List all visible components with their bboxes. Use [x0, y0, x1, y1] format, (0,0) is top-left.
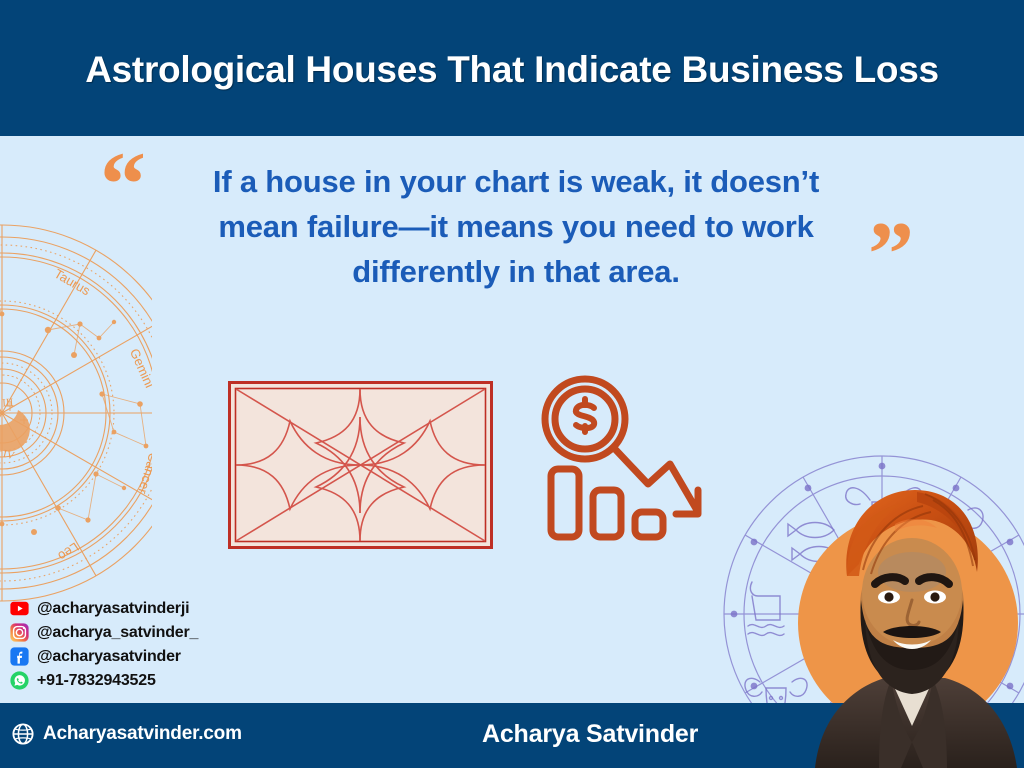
whatsapp-icon[interactable] — [10, 671, 29, 690]
avatar — [805, 480, 1020, 768]
social-handle-instagram: @acharya_satvinder_ — [37, 624, 198, 642]
globe-icon — [12, 723, 34, 745]
svg-text:Cancer: Cancer — [135, 451, 152, 496]
social-links: @acharyasatvinderji @acharya_satvinder_ — [10, 598, 198, 691]
social-handle-facebook: @acharyasatvinder — [37, 648, 181, 666]
quote-open-mark: “ — [100, 148, 146, 222]
svg-text:IV: IV — [2, 448, 16, 462]
social-row-youtube[interactable]: @acharyasatvinderji — [10, 598, 198, 619]
quote-line-1: If a house in your chart is weak, it doe… — [186, 160, 846, 205]
author-name: Acharya Satvinder — [482, 720, 698, 749]
instagram-icon[interactable] — [10, 623, 29, 642]
quote-text: If a house in your chart is weak, it doe… — [186, 160, 846, 295]
youtube-icon[interactable] — [10, 599, 29, 618]
website-link[interactable]: Acharyasatvinder.com — [12, 723, 242, 745]
svg-text:Gemini: Gemini — [127, 346, 152, 390]
facebook-icon[interactable] — [10, 647, 29, 666]
north-indian-kundali-chart — [228, 381, 493, 549]
svg-text:III: III — [2, 397, 14, 410]
header-bar: Astrological Houses That Indicate Busine… — [0, 0, 1024, 136]
quote-line-3: differently in that area. — [186, 250, 846, 295]
svg-text:Leo: Leo — [55, 539, 81, 564]
business-loss-magnifier-chart-icon — [530, 372, 710, 548]
social-handle-youtube: @acharyasatvinderji — [37, 600, 189, 618]
social-row-instagram[interactable]: @acharya_satvinder_ — [10, 622, 198, 643]
zodiac-wheel-orange: ♈ ♉ ♊ ♋ ♌ ♍ I II III IV V VI Aries Tauru… — [0, 218, 152, 608]
social-handle-whatsapp: +91-7832943525 — [37, 672, 156, 690]
quote-close-mark: ” — [868, 218, 914, 292]
social-row-facebook[interactable]: @acharyasatvinder — [10, 646, 198, 667]
svg-text:Taurus: Taurus — [52, 266, 94, 299]
social-row-whatsapp[interactable]: +91-7832943525 — [10, 670, 198, 691]
poster-canvas: ♈ ♉ ♊ ♋ ♌ ♍ I II III IV V VI Aries Tauru… — [0, 0, 1024, 768]
website-label: Acharyasatvinder.com — [43, 723, 242, 745]
quote-line-2: mean failure—it means you need to work — [186, 205, 846, 250]
page-title: Astrological Houses That Indicate Busine… — [85, 49, 939, 91]
